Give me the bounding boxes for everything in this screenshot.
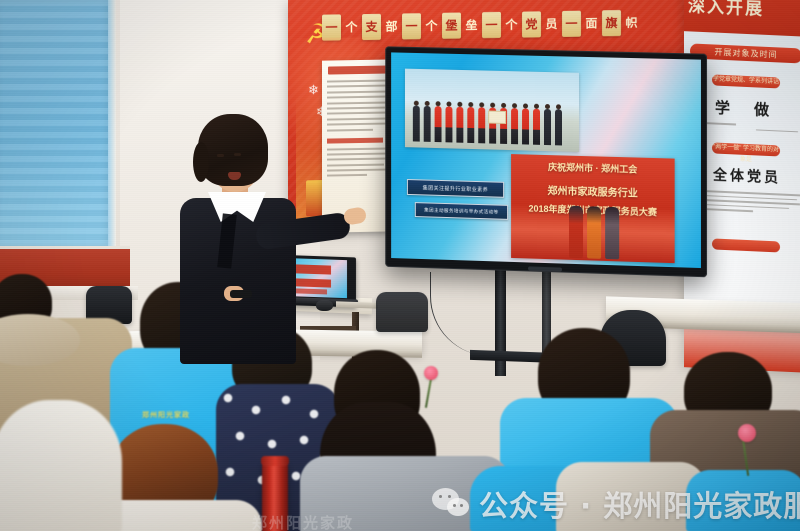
- thermos-cap[interactable]: [261, 456, 289, 466]
- certificate-icon: [488, 111, 506, 124]
- white-knit-hood: [0, 400, 122, 531]
- slogan-char: 堡: [442, 13, 461, 39]
- right-panel-pill-1: 学党章党规、学系列讲话: [712, 74, 780, 88]
- slide-bullet-1: 集团关注提升行业职业素养: [407, 179, 504, 198]
- right-panel-top-banner: 深入开展: [684, 0, 800, 37]
- slogan-char: 个: [424, 13, 439, 39]
- right-panel-pill-3: [712, 238, 780, 252]
- photo-scene: ☭ 一 个 支 部 一 个 堡 垒 一 个 党 员 一 面 旗 帜 ❄ ❄ ❄: [0, 0, 800, 531]
- slogan-char: 一: [562, 11, 581, 37]
- computer-mouse[interactable]: [316, 300, 333, 311]
- chair[interactable]: [376, 292, 428, 332]
- vest-logo-text: 郑州阳光家政: [142, 410, 190, 420]
- slogan-char: 员: [544, 11, 559, 37]
- presenter-remote: [230, 290, 252, 298]
- flower: [738, 424, 756, 442]
- slogan-char: 帜: [624, 10, 639, 36]
- poster-heading: [328, 65, 392, 74]
- slide-award-photo: 庆祝郑州市 · 郑州工会 郑州市家政服务行业 2018年度郑州市家政服务员大赛: [511, 154, 675, 263]
- slogan-char: 个: [504, 12, 519, 38]
- right-panel-banner-text: 深入开展: [688, 0, 800, 22]
- right-panel-pill-2: "两学一做" 学习教育的对象是: [712, 142, 780, 156]
- television: 庆祝郑州市 · 郑州工会 郑州市家政服务行业 2018年度郑州市家政服务员大赛 …: [385, 46, 707, 277]
- slogan-char: 党: [522, 11, 541, 37]
- flower: [424, 366, 438, 380]
- slogan-char: 垒: [464, 12, 479, 38]
- window-blind-edge: [108, 0, 116, 252]
- slide-banner-line-2: 郑州市家政服务行业: [511, 181, 675, 201]
- slogan-char: 旗: [602, 10, 621, 36]
- watermark-bottom-text: 郑州阳光家政: [252, 512, 354, 531]
- slide-banner-line-1: 庆祝郑州市 · 郑州工会: [511, 159, 675, 177]
- beige-garment-bottom: [556, 462, 706, 531]
- tv-screen: 庆祝郑州市 · 郑州工会 郑州市家政服务行业 2018年度郑州市家政服务员大赛 …: [391, 52, 701, 268]
- right-panel-captions: [692, 122, 800, 136]
- slogan-char: 面: [584, 10, 599, 36]
- slogan-char: 一: [482, 12, 501, 38]
- right-panel-body-text: [692, 190, 800, 218]
- slide-bullet-2: 集团主动服务培训与举办式活动等: [415, 202, 508, 220]
- blue-vest-bottom-right: [686, 470, 800, 531]
- slide-group-photo: [405, 69, 579, 152]
- window-blind: [0, 0, 112, 246]
